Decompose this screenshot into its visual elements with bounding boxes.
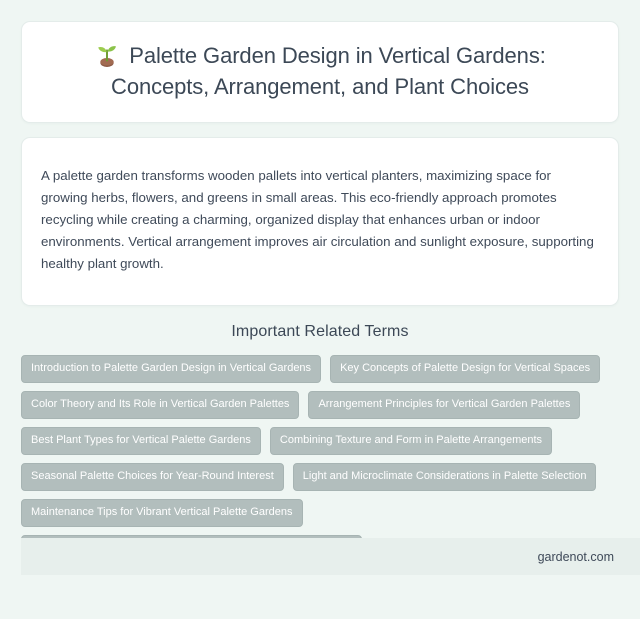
footer-site-name: gardenot.com: [538, 550, 614, 564]
related-terms-list: Introduction to Palette Garden Design in…: [21, 355, 619, 563]
related-term-tag[interactable]: Introduction to Palette Garden Design in…: [21, 355, 321, 383]
related-term-tag[interactable]: Arrangement Principles for Vertical Gard…: [308, 391, 580, 419]
footer-bar: gardenot.com: [21, 538, 640, 575]
seedling-icon: [94, 42, 120, 68]
summary-text: A palette garden transforms wooden palle…: [41, 165, 599, 275]
related-terms-heading: Important Related Terms: [21, 323, 619, 341]
related-term-tag[interactable]: Best Plant Types for Vertical Palette Ga…: [21, 427, 261, 455]
related-term-tag[interactable]: Seasonal Palette Choices for Year-Round …: [21, 463, 284, 491]
page-title: Palette Garden Design in Vertical Garden…: [52, 40, 588, 102]
related-term-tag[interactable]: Color Theory and Its Role in Vertical Ga…: [21, 391, 299, 419]
title-card: Palette Garden Design in Vertical Garden…: [21, 21, 619, 123]
page-root: Palette Garden Design in Vertical Garden…: [0, 0, 640, 619]
related-term-tag[interactable]: Combining Texture and Form in Palette Ar…: [270, 427, 552, 455]
related-term-tag[interactable]: Key Concepts of Palette Design for Verti…: [330, 355, 600, 383]
page-title-text: Palette Garden Design in Vertical Garden…: [111, 43, 546, 99]
related-term-tag[interactable]: Light and Microclimate Considerations in…: [293, 463, 597, 491]
related-term-tag[interactable]: Maintenance Tips for Vibrant Vertical Pa…: [21, 499, 303, 527]
summary-card: A palette garden transforms wooden palle…: [21, 137, 619, 306]
